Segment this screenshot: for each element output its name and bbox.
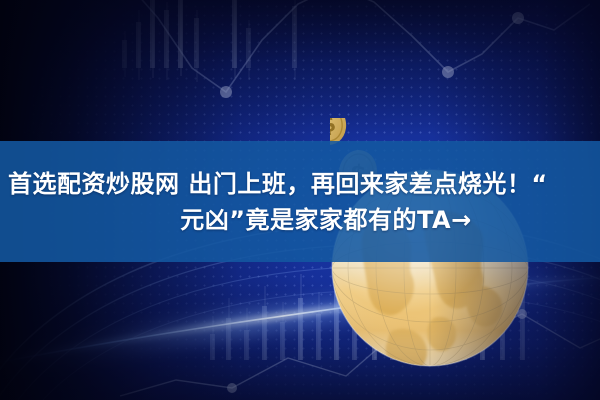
headline-line-2: 元凶”竟是家家都有的TA→: [128, 203, 471, 237]
headline: 首选配资炒股网 出门上班，再回来家差点烧光！“ 元凶”竟是家家都有的TA→: [0, 141, 600, 262]
stock-promo-banner: $ $ 首选配资炒股网 出门上班，再回来家差点烧光！“ 元凶”竟是家家都有的TA…: [0, 0, 600, 400]
zigzag-line-chart-top: [130, 0, 590, 106]
headline-line-1: 首选配资炒股网 出门上班，再回来家差点烧光！“: [0, 167, 548, 201]
